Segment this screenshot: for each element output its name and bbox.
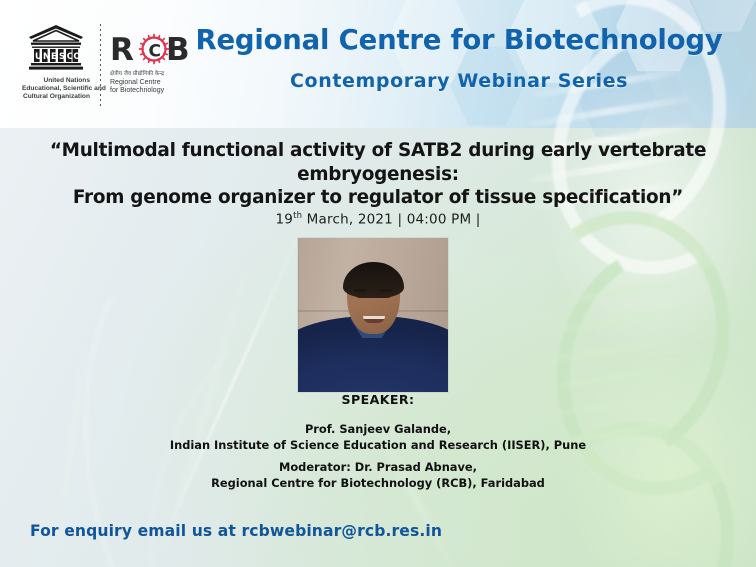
moderator-name: Moderator: Dr. Prasad Abnave, bbox=[0, 459, 756, 475]
talk-title-line3: From genome organizer to regulator of ti… bbox=[20, 186, 736, 210]
svg-text:S: S bbox=[59, 52, 65, 62]
svg-text:U: U bbox=[35, 52, 42, 62]
photo-brow-left bbox=[354, 289, 366, 292]
moderator-details: Moderator: Dr. Prasad Abnave, Regional C… bbox=[0, 459, 756, 491]
unesco-logo: UNE SCO United Nations Educational, Scie… bbox=[22, 24, 90, 102]
poster-header: UNE SCO United Nations Educational, Scie… bbox=[0, 0, 756, 118]
date-day: 19 bbox=[275, 212, 293, 228]
series-subtitle: Contemporary Webinar Series bbox=[168, 70, 750, 92]
svg-text:C: C bbox=[149, 42, 161, 62]
speaker-affiliation: Indian Institute of Science Education an… bbox=[0, 437, 756, 453]
date-time: 19th March, 2021 | 04:00 PM | bbox=[0, 211, 756, 228]
svg-text:O: O bbox=[73, 52, 80, 62]
speaker-photo bbox=[298, 238, 448, 392]
svg-text:C: C bbox=[67, 52, 73, 62]
date-rest: March, 2021 | 04:00 PM | bbox=[302, 212, 480, 228]
svg-text:E: E bbox=[51, 52, 57, 62]
speaker-details: Prof. Sanjeev Galande, Indian Institute … bbox=[0, 421, 756, 453]
webinar-poster: UNE SCO United Nations Educational, Scie… bbox=[0, 0, 756, 567]
photo-brow-right bbox=[380, 289, 392, 292]
photo-mouth bbox=[363, 316, 385, 323]
moderator-affiliation: Regional Centre for Biotechnology (RCB),… bbox=[0, 475, 756, 491]
enquiry-contact[interactable]: For enquiry email us at rcbwebinar@rcb.r… bbox=[30, 522, 442, 540]
unesco-caption: United Nations Educational, Scientific a… bbox=[22, 77, 90, 102]
talk-title: “Multimodal functional activity of SATB2… bbox=[20, 139, 736, 210]
page-title: Regional Centre for Biotechnology bbox=[168, 24, 750, 56]
date-ordinal: th bbox=[293, 211, 302, 221]
talk-title-line1: “Multimodal functional activity of SATB2… bbox=[50, 140, 706, 161]
speaker-label: SPEAKER: bbox=[0, 392, 756, 407]
svg-text:N: N bbox=[43, 52, 50, 62]
svg-text:R: R bbox=[110, 32, 134, 66]
logo-divider bbox=[100, 24, 101, 106]
speaker-name: Prof. Sanjeev Galande, bbox=[0, 421, 756, 437]
photo-eye-left bbox=[356, 294, 365, 298]
unesco-temple-icon: UNE SCO bbox=[25, 24, 87, 72]
talk-title-line2: embryogenesis: bbox=[297, 164, 459, 185]
photo-eye-right bbox=[382, 294, 391, 298]
